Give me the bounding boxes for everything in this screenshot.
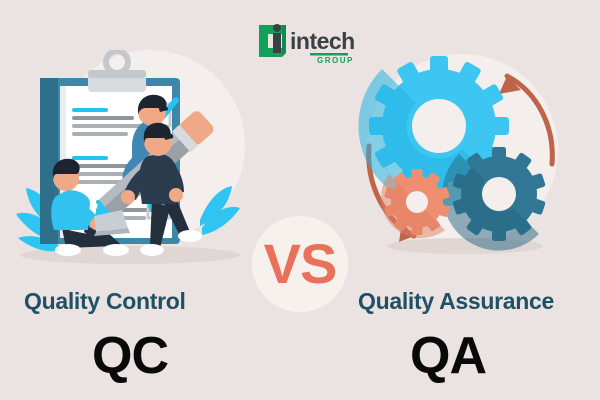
- logo-green-edge: [282, 25, 286, 57]
- logo-underline-bar: [310, 53, 348, 56]
- poster-canvas: intech GROUP: [0, 0, 600, 400]
- quality-assurance-title: Quality Assurance: [358, 288, 554, 315]
- hand-left: [121, 190, 135, 204]
- quality-assurance-acronym: QA: [410, 326, 486, 386]
- intech-group-logo: intech GROUP: [255, 18, 365, 64]
- small-coral-gear-icon: [381, 169, 450, 238]
- qc-illustration-svg: [0, 50, 270, 280]
- quality-control-illustration: [0, 50, 270, 280]
- logo-i-dot: [273, 24, 281, 32]
- seated-shoe-left: [55, 244, 81, 256]
- qa-illustration-svg: [355, 50, 570, 265]
- quality-control-title: Quality Control: [24, 288, 186, 315]
- logo-tagline: GROUP: [317, 56, 354, 64]
- shoe-left: [140, 244, 164, 256]
- vs-label: VS: [264, 236, 337, 292]
- vs-badge: VS: [252, 216, 348, 312]
- logo-wordmark: intech: [290, 28, 355, 54]
- hand-right: [169, 188, 183, 202]
- logo-svg: intech GROUP: [255, 18, 365, 64]
- quality-control-acronym: QC: [92, 326, 168, 386]
- shoe-right: [178, 230, 202, 242]
- seated-shoe-right: [103, 244, 129, 256]
- logo-i-stem: [273, 33, 281, 53]
- quality-assurance-illustration: [355, 50, 570, 265]
